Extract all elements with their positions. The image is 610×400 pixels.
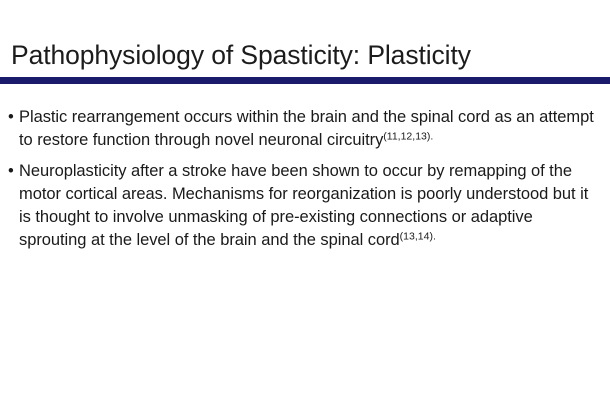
bullet-text-1: Plastic rearrangement occurs within the …	[19, 108, 594, 149]
page-title: Pathophysiology of Spasticity: Plasticit…	[11, 38, 471, 72]
bullet-text-2: Neuroplasticity after a stroke have been…	[19, 162, 588, 249]
list-item: • Neuroplasticity after a stroke have be…	[0, 160, 610, 252]
citation-superscript-1: (11,12,13).	[383, 131, 433, 143]
list-item: • Plastic rearrangement occurs within th…	[0, 106, 610, 152]
slide-body: • Plastic rearrangement occurs within th…	[0, 106, 610, 252]
bullet-point-icon: •	[8, 106, 14, 129]
presentation-slide: Pathophysiology of Spasticity: Plasticit…	[0, 0, 610, 400]
title-underline-rule	[0, 77, 610, 84]
bullet-body-1: Plastic rearrangement occurs within the …	[19, 106, 601, 152]
citation-superscript-2: (13,14).	[400, 231, 436, 243]
bullet-body-2: Neuroplasticity after a stroke have been…	[19, 160, 601, 252]
slide-title-block: Pathophysiology of Spasticity: Plasticit…	[0, 38, 610, 78]
bullet-point-icon: •	[8, 160, 14, 183]
